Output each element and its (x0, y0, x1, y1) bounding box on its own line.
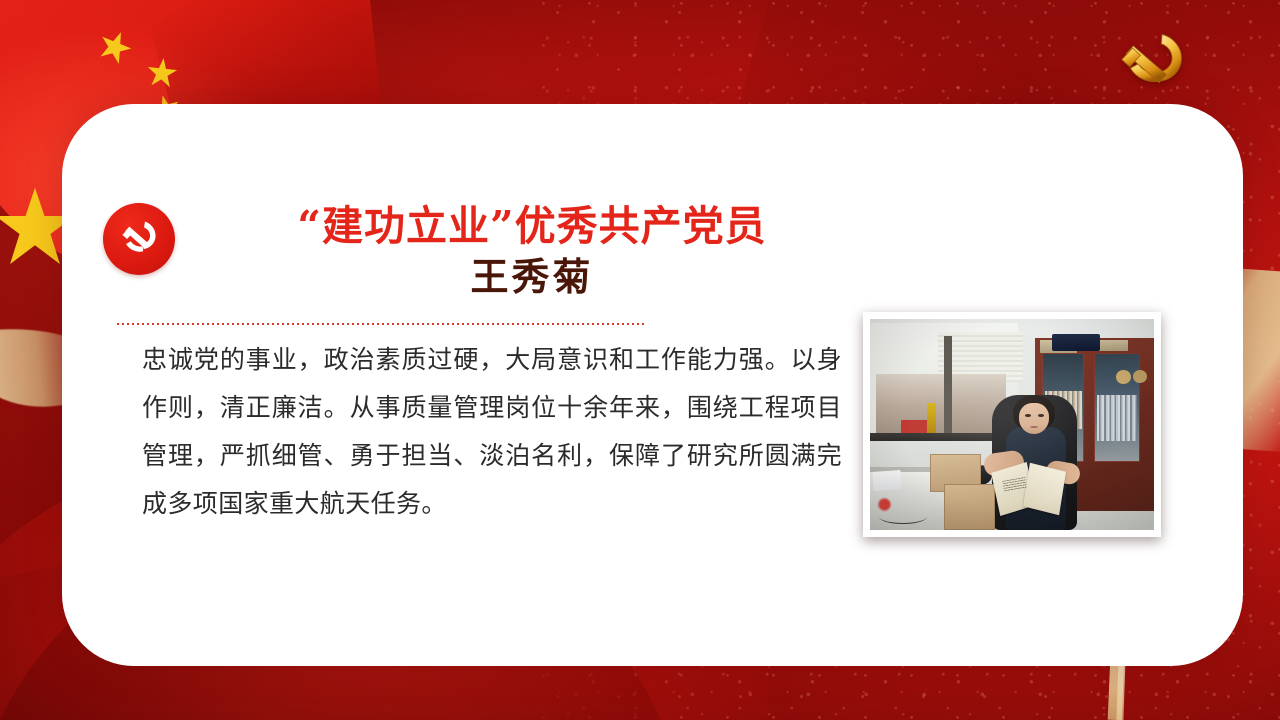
person-name: 王秀菊 (202, 254, 862, 300)
flag-small-star-2-icon (144, 55, 179, 90)
biography-text: 忠诚党的事业，政治素质过硬，大局意识和工作能力强。以身作则，清正廉洁。从事质量管… (142, 336, 842, 528)
biography-paragraph: 忠诚党的事业，政治素质过硬，大局意识和工作能力强。以身作则，清正廉洁。从事质量管… (142, 336, 842, 528)
content-card: “建功立业”优秀共产党员 王秀菊 忠诚党的事业，政治素质过硬，大局意识和工作能力… (62, 104, 1243, 666)
page-title: “建功立业”优秀共产党员 (202, 202, 862, 250)
title-block: “建功立业”优秀共产党员 王秀菊 (202, 202, 862, 301)
portrait-photo (870, 319, 1154, 530)
section-divider (117, 323, 645, 325)
party-emblem-gold-icon (1108, 28, 1196, 94)
party-emblem-badge-icon (103, 203, 175, 275)
photo-vignette (870, 319, 1154, 530)
portrait-photo-frame (863, 312, 1161, 537)
